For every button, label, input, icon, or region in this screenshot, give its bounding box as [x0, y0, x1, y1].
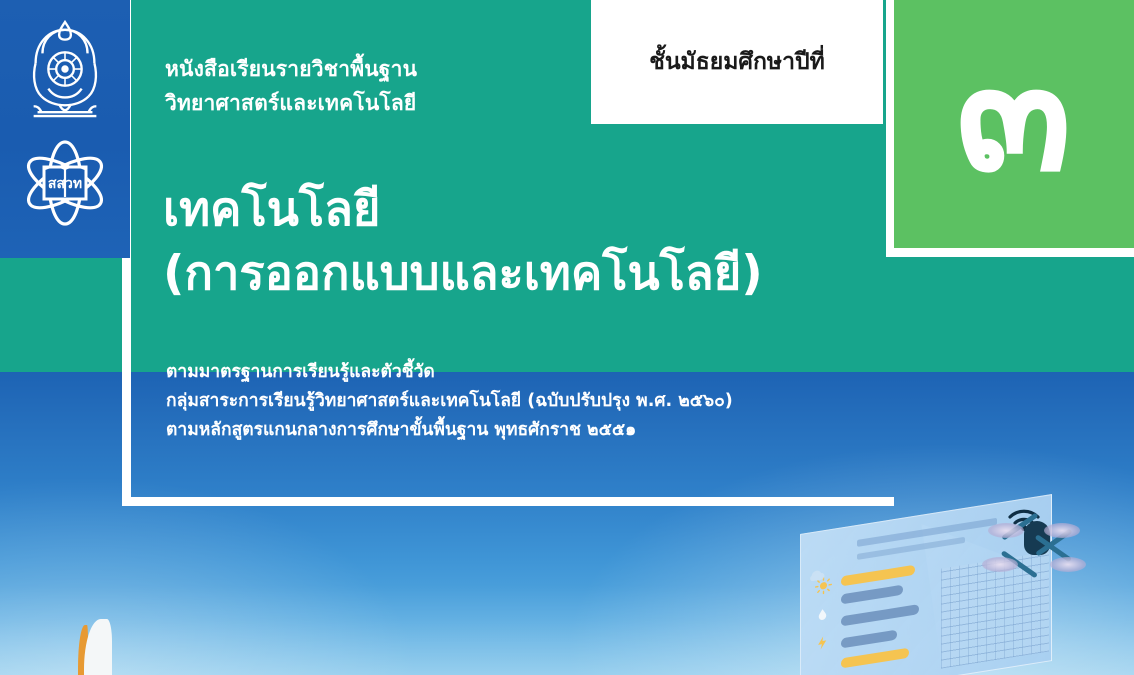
- hologram-bar-5-fill: [841, 648, 909, 669]
- hologram-bar-1-fill: [841, 565, 915, 587]
- book-cover: สสวท หนังสือเรียนรายวิชาพื้นฐาน วิทยาศาส…: [0, 0, 1134, 675]
- ipst-atom-logo-icon: สสวท: [18, 136, 112, 230]
- grade-level-label: ชั้นมัธยมศึกษาปีที่: [649, 44, 825, 80]
- logo-sidebar: สสวท: [0, 0, 130, 258]
- drone-rotor-3: [982, 557, 1018, 572]
- drone-rotor-1: [988, 523, 1024, 538]
- curriculum-note-line-3: ตามหลักสูตรแกนกลางการศึกษาขั้นพื้นฐาน พุ…: [166, 416, 733, 445]
- ipst-logo-text: สสวท: [48, 176, 82, 192]
- series-heading: หนังสือเรียนรายวิชาพื้นฐาน วิทยาศาสตร์แล…: [165, 52, 417, 120]
- curriculum-note-line-2: กลุ่มสาระการเรียนรู้วิทยาศาสตร์และเทคโนโ…: [166, 387, 733, 416]
- curriculum-note-line-1: ตามมาตรฐานการเรียนรู้และตัวชี้วัด: [166, 358, 733, 387]
- quadcopter-drone: [978, 509, 1098, 589]
- book-title: เทคโนโลยี (การออกแบบและเทคโนโลยี): [163, 178, 763, 306]
- book-title-line-1: เทคโนโลยี: [163, 178, 763, 242]
- cloud-icon: [807, 565, 824, 585]
- drone-hologram-illustration: [780, 475, 1134, 675]
- blade-white-body: [84, 619, 112, 675]
- raindrop-icon: [815, 606, 832, 626]
- drone-rotor-4: [1050, 557, 1086, 572]
- grade-number: ๓: [894, 26, 1134, 196]
- hologram-bar-3: [841, 604, 919, 626]
- grade-level-box: ชั้นมัธยมศึกษาปีที่: [591, 0, 883, 124]
- hologram-bar-2: [841, 585, 903, 605]
- curriculum-note: ตามมาตรฐานการเรียนรู้และตัวชี้วัด กลุ่มส…: [166, 358, 733, 445]
- drone-rotor-2: [1044, 523, 1080, 538]
- ministry-of-education-emblem-icon: [16, 18, 114, 122]
- lightning-bolt-icon: [815, 634, 832, 654]
- hologram-bar-4: [841, 630, 897, 649]
- series-heading-line-2: วิทยาศาสตร์และเทคโนโลยี: [165, 86, 417, 120]
- wind-turbine-blade: [78, 619, 112, 675]
- grade-number-block: ๓: [894, 0, 1134, 248]
- green-block-bottom-edge: [886, 248, 1134, 257]
- series-heading-line-1: หนังสือเรียนรายวิชาพื้นฐาน: [165, 52, 417, 86]
- book-title-line-2: (การออกแบบและเทคโนโลยี): [163, 242, 763, 306]
